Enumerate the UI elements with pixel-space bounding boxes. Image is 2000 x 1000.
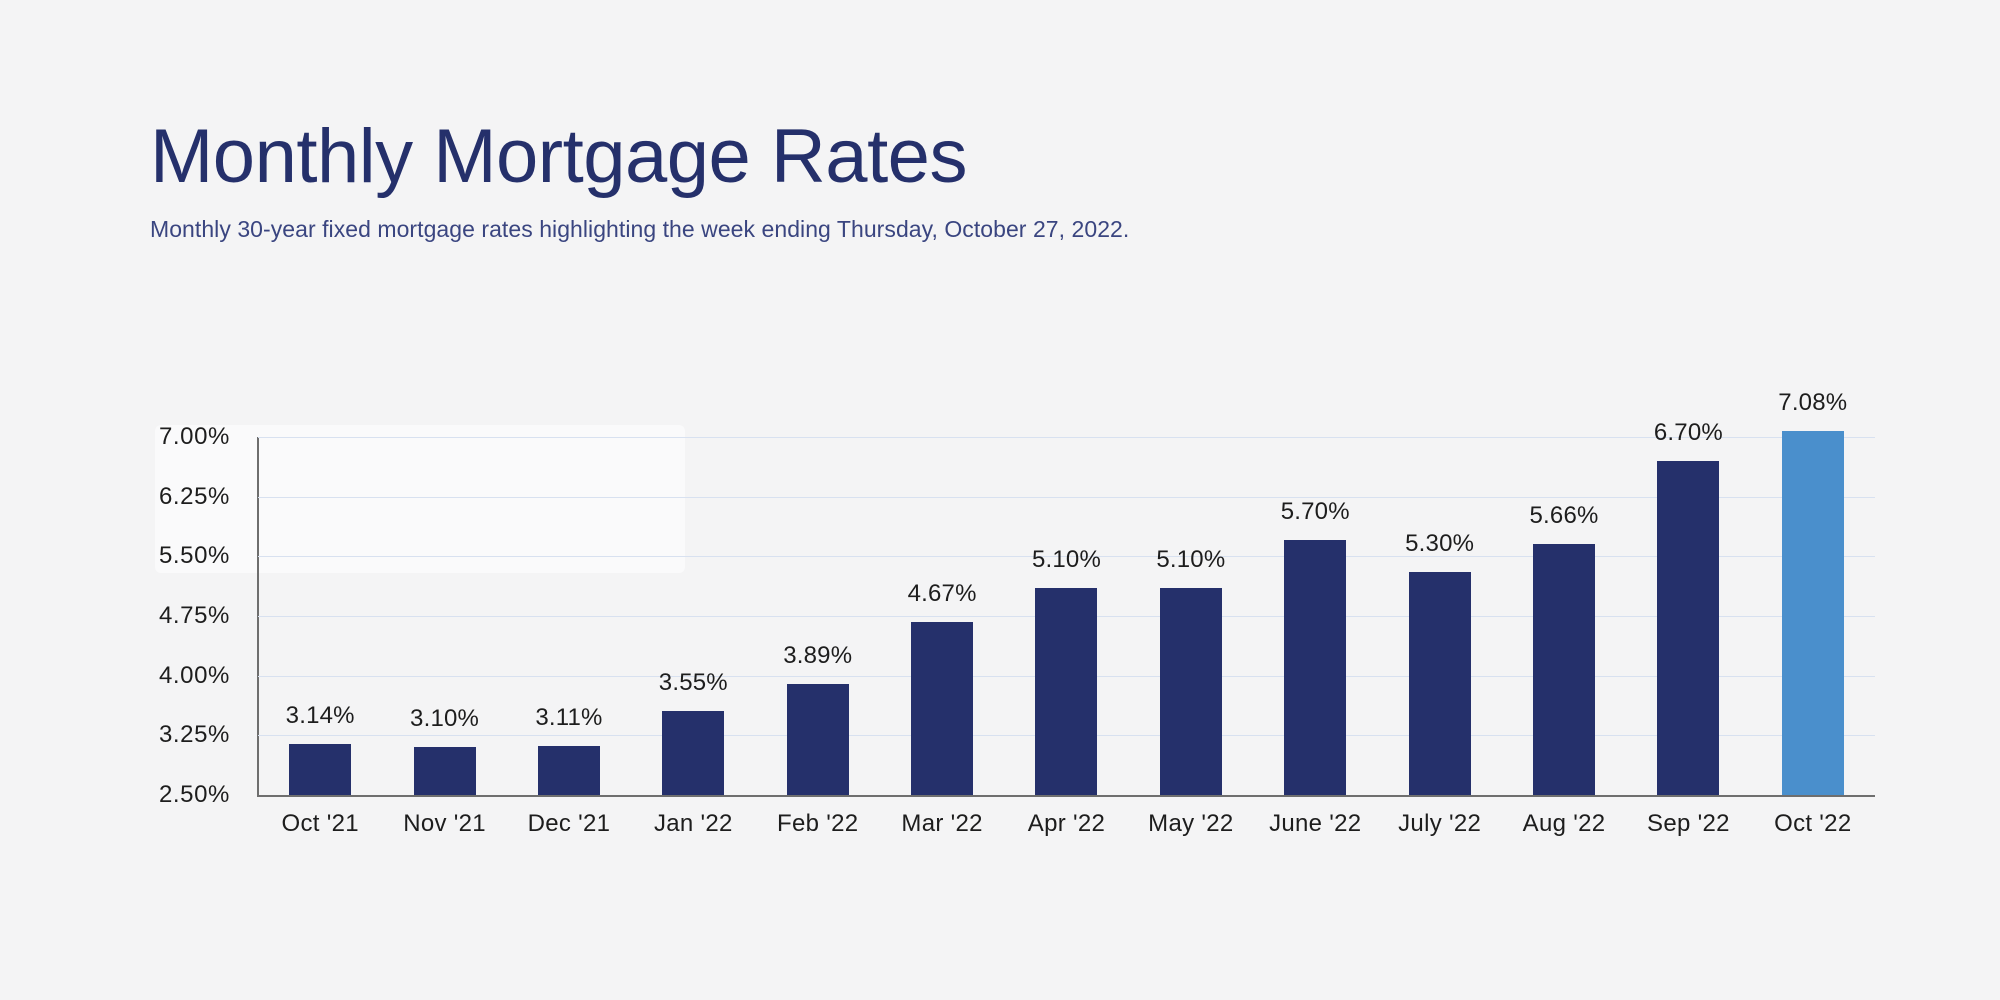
bar-group[interactable]: 3.10% [382,437,506,795]
x-axis-tick-labels: Oct '21Nov '21Dec '21Jan '22Feb '22Mar '… [258,810,1875,850]
bar-group[interactable]: 3.55% [631,437,755,795]
bar-group[interactable]: 5.10% [1129,437,1253,795]
x-axis-tick-label: Dec '21 [528,810,611,838]
bar-value-label: 3.11% [535,704,602,732]
bar-value-label: 3.89% [783,642,852,670]
bar[interactable] [1284,540,1346,795]
bar-value-label: 4.67% [908,580,977,608]
bar-value-label: 5.66% [1530,502,1599,530]
bar-highlighted[interactable] [1782,431,1844,795]
bar[interactable] [1409,572,1471,795]
plot-area: 3.14%3.10%3.11%3.55%3.89%4.67%5.10%5.10%… [258,437,1875,795]
x-axis-tick-label: Apr '22 [1028,810,1105,838]
x-axis-tick-label: Aug '22 [1523,810,1606,838]
x-axis-tick-label: Sep '22 [1647,810,1730,838]
bar[interactable] [662,711,724,795]
bar[interactable] [911,622,973,795]
bar-group[interactable]: 6.70% [1626,437,1750,795]
bar-group[interactable]: 3.89% [756,437,880,795]
bar-group[interactable]: 5.10% [1004,437,1128,795]
bar[interactable] [1533,544,1595,795]
bar-chart: 7.00%6.25%5.50%4.75%4.00%3.25%2.50% 3.14… [0,0,2000,1000]
x-axis-line [258,795,1875,797]
bar-group[interactable]: 7.08% [1751,437,1875,795]
bar[interactable] [289,744,351,795]
y-axis-tick-label: 4.75% [0,602,230,630]
bar-value-label: 5.70% [1281,498,1350,526]
x-axis-tick-label: July '22 [1398,810,1481,838]
bar-group[interactable]: 3.11% [507,437,631,795]
bar-group[interactable]: 4.67% [880,437,1004,795]
bar-value-label: 3.14% [286,702,355,730]
bar-group[interactable]: 3.14% [258,437,382,795]
x-axis-tick-label: Nov '21 [403,810,486,838]
y-axis-tick-label: 5.50% [0,542,230,570]
bar-value-label: 5.10% [1032,546,1101,574]
y-axis-tick-label: 3.25% [0,721,230,749]
x-axis-tick-label: June '22 [1269,810,1361,838]
x-axis-tick-label: Jan '22 [654,810,733,838]
x-axis-tick-label: Oct '21 [281,810,358,838]
bar-group[interactable]: 5.30% [1377,437,1501,795]
bar-value-label: 3.10% [410,705,479,733]
bar-value-label: 5.10% [1156,546,1225,574]
bar-value-label: 5.30% [1405,530,1474,558]
y-axis-tick-label: 6.25% [0,483,230,511]
bar[interactable] [538,746,600,795]
y-axis-tick-label: 2.50% [0,781,230,809]
x-axis-tick-label: Oct '22 [1774,810,1851,838]
bar[interactable] [1035,588,1097,795]
x-axis-tick-label: Feb '22 [777,810,858,838]
x-axis-tick-label: Mar '22 [901,810,982,838]
x-axis-tick-label: May '22 [1148,810,1233,838]
bar-series: 3.14%3.10%3.11%3.55%3.89%4.67%5.10%5.10%… [258,437,1875,795]
y-axis-tick-label: 4.00% [0,662,230,690]
bar-value-label: 3.55% [659,669,728,697]
bar-group[interactable]: 5.66% [1502,437,1626,795]
bar-value-label: 7.08% [1778,389,1847,417]
bar[interactable] [1160,588,1222,795]
bar-value-label: 6.70% [1654,419,1723,447]
bar-group[interactable]: 5.70% [1253,437,1377,795]
bar[interactable] [414,747,476,795]
bar[interactable] [787,684,849,795]
bar[interactable] [1657,461,1719,795]
y-axis-tick-label: 7.00% [0,423,230,451]
